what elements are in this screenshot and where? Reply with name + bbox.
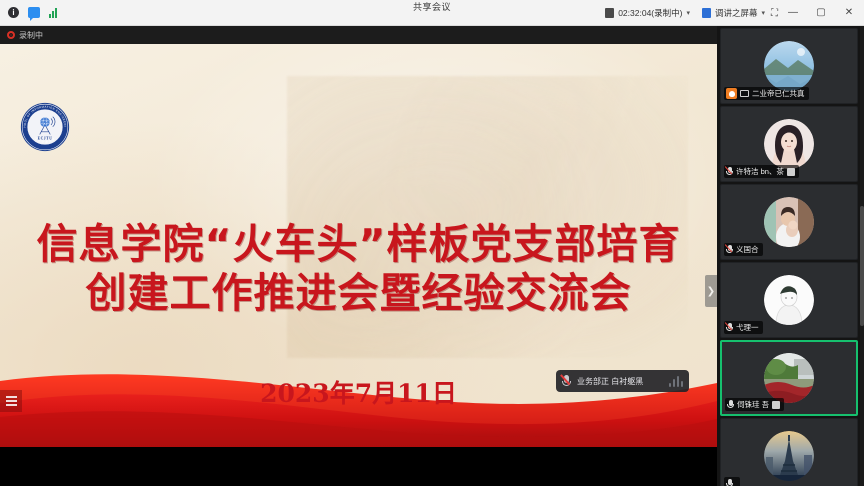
microphone-muted-icon — [726, 245, 733, 255]
slide-title-line-1: 信息学院“火车头”样板党支部培育 — [0, 220, 717, 269]
share-screen-label: 调讲之屏幕 — [715, 7, 758, 19]
participant-nametag: 义国合 — [724, 243, 763, 256]
participant-tile[interactable] — [720, 418, 858, 486]
screen-share-icon — [702, 8, 711, 18]
panel-scrollbar-thumb[interactable] — [860, 206, 864, 326]
host-icon — [726, 88, 737, 99]
participant-nametag — [724, 477, 740, 486]
svg-text:ECJTU: ECJTU — [38, 136, 53, 140]
participant-name: 弋理一 — [736, 322, 759, 333]
participant-tile[interactable]: 义国合 — [720, 184, 858, 260]
chevron-down-icon[interactable]: ▾ — [686, 9, 690, 17]
title-bar-right: 02:32:04(录制中) ▾ 调讲之屏幕 ▾ ⛶ — ▢ ✕ — [605, 0, 860, 26]
chevron-down-icon-share[interactable]: ▾ — [761, 9, 765, 17]
participant-name: 许特洁 bn、茶 — [736, 166, 784, 177]
timer-icon — [605, 8, 614, 18]
screen-share-icon — [740, 90, 749, 97]
microphone-muted-icon — [726, 323, 733, 333]
participant-tile[interactable]: 许特洁 bn、茶 — [720, 106, 858, 182]
people-icon — [787, 168, 795, 176]
avatar — [764, 275, 814, 325]
avatar — [764, 119, 814, 169]
record-icon — [7, 31, 15, 39]
audio-wave-icon — [669, 376, 684, 387]
slide-title: 信息学院“火车头”样板党支部培育 创建工作推进会暨经验交流会 — [0, 220, 717, 318]
microphone-muted-icon — [562, 375, 571, 388]
people-icon — [772, 401, 780, 409]
avatar — [764, 41, 814, 91]
title-bar: i 共享会议 02:32:04(录制中) ▾ 调讲之屏幕 ▾ ⛶ — ▢ ✕ — [0, 0, 864, 26]
share-screen-control[interactable]: 调讲之屏幕 ▾ — [702, 7, 765, 19]
floating-speaker-name: 业务部正 白衬躯黑 — [577, 376, 643, 387]
slide-menu-button[interactable] — [0, 390, 22, 412]
panel-collapse-handle[interactable]: ❯ — [705, 275, 717, 307]
recording-bar: 录制中 — [0, 26, 717, 44]
panel-scrollbar-track[interactable] — [860, 26, 864, 486]
university-logo: SCHOOL OF INFORMATION ENGINEERING 华东交通大学 — [20, 102, 134, 216]
active-speaker-floating-bar[interactable]: 业务部正 白衬躯黑 — [556, 370, 689, 392]
avatar — [764, 353, 814, 403]
participant-nametag: 伺铢珪 吾 — [725, 398, 784, 411]
maximize-button[interactable]: ▢ — [810, 7, 832, 20]
microphone-muted-icon — [726, 167, 733, 177]
meeting-window: i 共享会议 02:32:04(录制中) ▾ 调讲之屏幕 ▾ ⛶ — ▢ ✕ — [0, 0, 864, 486]
participant-tile[interactable]: 弋理一 — [720, 262, 858, 338]
participant-nametag: 弋理一 — [724, 321, 763, 334]
microphone-icon — [727, 400, 734, 410]
meeting-timer-label: 02:32:04(录制中) — [618, 7, 682, 19]
participant-name: 伺铢珪 吾 — [737, 399, 769, 410]
microphone-icon — [726, 479, 733, 486]
avatar — [764, 431, 814, 481]
participant-panel[interactable]: 二业帝已仁共真 — [717, 26, 864, 486]
participant-name: 二业帝已仁共真 — [752, 88, 805, 99]
participant-tile-active[interactable]: 伺铢珪 吾 — [720, 340, 858, 416]
participant-nametag: 许特洁 bn、茶 — [724, 165, 799, 178]
participant-nametag: 二业帝已仁共真 — [724, 87, 809, 100]
meeting-timer[interactable]: 02:32:04(录制中) ▾ — [605, 7, 690, 19]
participant-name: 义国合 — [736, 244, 759, 255]
shared-content-stage: 录制中 SCHOOL OF INFORMATION ENGINEERING — [0, 26, 717, 486]
slide-title-line-2: 创建工作推进会暨经验交流会 — [0, 269, 717, 318]
participant-tile[interactable]: 二业帝已仁共真 — [720, 28, 858, 104]
fullscreen-icon[interactable]: ⛶ — [771, 8, 776, 19]
avatar — [764, 197, 814, 247]
close-button[interactable]: ✕ — [838, 7, 860, 20]
minimize-button[interactable]: — — [782, 7, 804, 20]
recording-label: 录制中 — [19, 30, 43, 41]
